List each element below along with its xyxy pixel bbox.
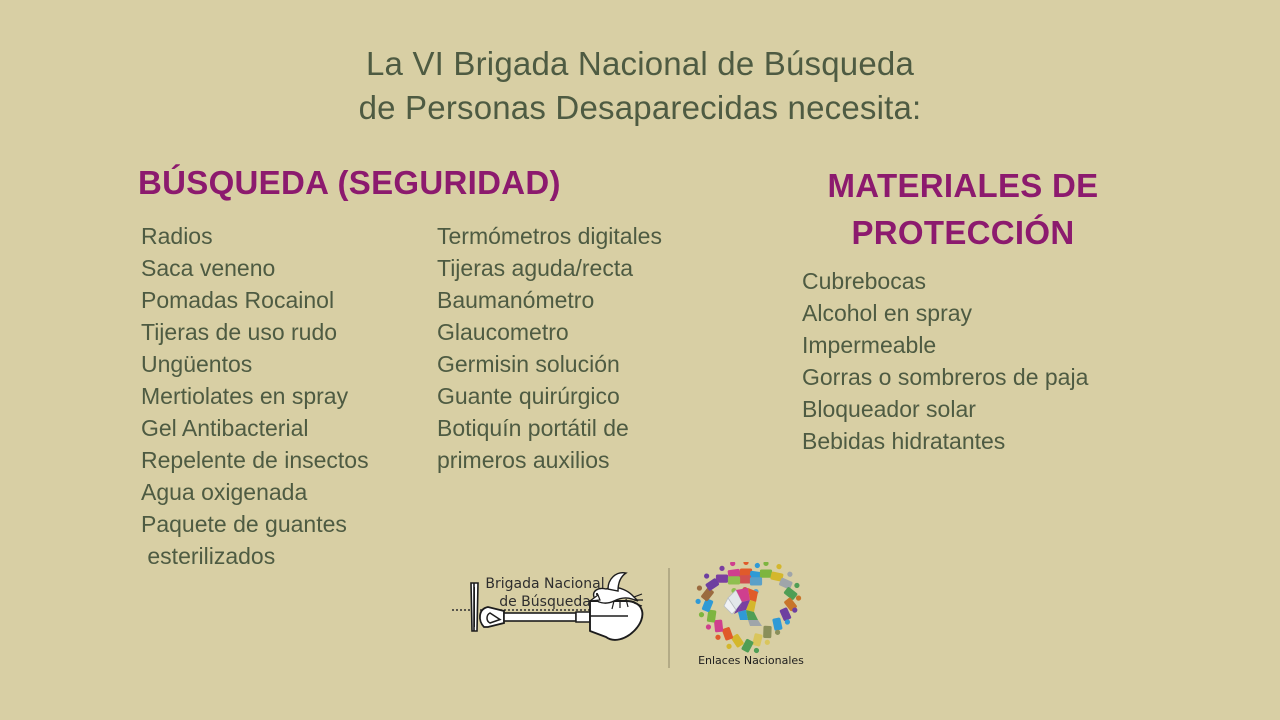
list-item: Radios — [141, 220, 441, 252]
page-title-line-1: La VI Brigada Nacional de Búsqueda — [0, 42, 1280, 86]
list-search-column-2: Termómetros digitales Tijeras aguda/rect… — [437, 220, 727, 476]
logo-enlaces-nacionales: Enlaces Nacionales — [692, 562, 810, 672]
heading-materiales-de-proteccion: MATERIALES DE PROTECCIÓN — [782, 162, 1144, 256]
page-title: La VI Brigada Nacional de Búsqueda de Pe… — [0, 42, 1280, 130]
heading-materiales-line-2: PROTECCIÓN — [782, 209, 1144, 256]
logo-brigada-nacional-de-busqueda: Brigada Nacional de Búsqueda — [448, 565, 660, 670]
list-item: Pomadas Rocainol — [141, 284, 441, 316]
list-search-column-1: Radios Saca veneno Pomadas Rocainol Tije… — [141, 220, 441, 572]
page-title-line-2: de Personas Desaparecidas necesita: — [0, 86, 1280, 130]
logo-brigada-caption: Brigada Nacional de Búsqueda — [470, 575, 620, 611]
slide-canvas: La VI Brigada Nacional de Búsqueda de Pe… — [0, 0, 1280, 720]
logo-brigada-caption-line-2: de Búsqueda — [470, 593, 620, 611]
list-item: Agua oxigenada — [141, 476, 441, 508]
list-item: primeros auxilios — [437, 444, 727, 476]
footer-divider — [668, 568, 670, 668]
list-protection-column: Cubrebocas Alcohol en spray Impermeable … — [802, 265, 1152, 457]
list-item: Mertiolates en spray — [141, 380, 441, 412]
list-item: Guante quirúrgico — [437, 380, 727, 412]
list-item: Termómetros digitales — [437, 220, 727, 252]
list-item: Paquete de guantes — [141, 508, 441, 540]
list-item: Germisin solución — [437, 348, 727, 380]
list-item: Glaucometro — [437, 316, 727, 348]
list-item: Repelente de insectos — [141, 444, 441, 476]
footer-logos: Brigada Nacional de Búsqueda — [0, 560, 1280, 680]
list-item: Bloqueador solar — [802, 393, 1152, 425]
list-item: Bebidas hidratantes — [802, 425, 1152, 457]
list-item: Gorras o sombreros de paja — [802, 361, 1152, 393]
logo-brigada-caption-line-1: Brigada Nacional — [470, 575, 620, 593]
heading-materiales-line-1: MATERIALES DE — [782, 162, 1144, 209]
list-item: Alcohol en spray — [802, 297, 1152, 329]
list-item: Saca veneno — [141, 252, 441, 284]
list-item: Gel Antibacterial — [141, 412, 441, 444]
heading-busqueda-seguridad: BÚSQUEDA (SEGURIDAD) — [138, 162, 561, 204]
list-item: Botiquín portátil de — [437, 412, 727, 444]
list-item: Impermeable — [802, 329, 1152, 361]
heart-of-people-icon — [692, 562, 810, 657]
list-item: Tijeras de uso rudo — [141, 316, 441, 348]
list-item: Ungüentos — [141, 348, 441, 380]
list-item: Baumanómetro — [437, 284, 727, 316]
logo-enlaces-caption: Enlaces Nacionales — [692, 654, 810, 667]
list-item: Tijeras aguda/recta — [437, 252, 727, 284]
list-item: Cubrebocas — [802, 265, 1152, 297]
